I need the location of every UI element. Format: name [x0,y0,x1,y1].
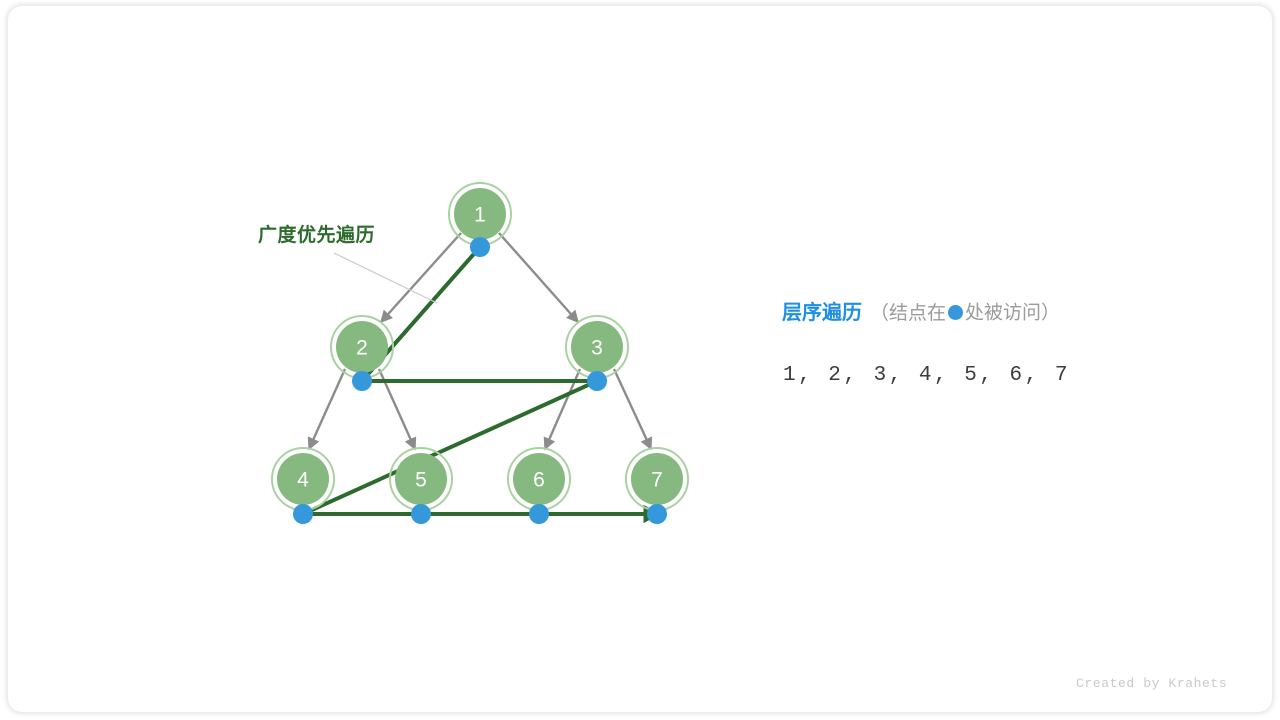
legend-note-before: （结点在 [870,303,946,324]
tree-edge-n3-n7 [614,369,651,449]
visit-dot-6 [529,504,549,524]
traversal-sequence: 1, 2, 3, 4, 5, 6, 7 [783,364,1070,387]
legend-title: 层序遍历 [782,302,862,324]
visit-dot-3 [587,371,607,391]
node-label: 2 [356,337,368,360]
tree-node-2: 2 [331,316,393,378]
tree-node-3: 3 [566,316,628,378]
diagram-stage: 1234567 广度优先遍历 层序遍历（结点在处被访问） 1, 2, 3, 4,… [0,0,1280,720]
legend: 层序遍历（结点在处被访问） [782,303,1060,323]
legend-note-after: 处被访问） [965,303,1060,324]
node-label: 1 [474,204,486,227]
tree-node-1: 1 [449,183,511,245]
tree-node-6: 6 [508,448,570,510]
tree-node-4: 4 [272,448,334,510]
node-label: 4 [297,469,309,492]
tree-edge-n2-n4 [309,369,345,449]
tree-edge-n1-n2 [381,233,461,322]
tree-node-7: 7 [626,448,688,510]
binary-tree-bfs-diagram: 1234567 [0,0,1280,720]
node-label: 3 [591,337,603,360]
tree-edge-n1-n3 [499,233,578,322]
visit-dot-4 [293,504,313,524]
blue-circle-icon [948,305,963,320]
node-label: 5 [415,469,427,492]
visit-dot-5 [411,504,431,524]
node-label: 7 [651,469,663,492]
credit-text: Created by Krahets [1076,676,1227,691]
visit-dot-2 [352,371,372,391]
visit-dot-7 [647,504,667,524]
tree-node-5: 5 [390,448,452,510]
node-label: 6 [533,469,545,492]
visit-dot-1 [470,237,490,257]
bfs-label: 广度优先遍历 [258,220,375,247]
